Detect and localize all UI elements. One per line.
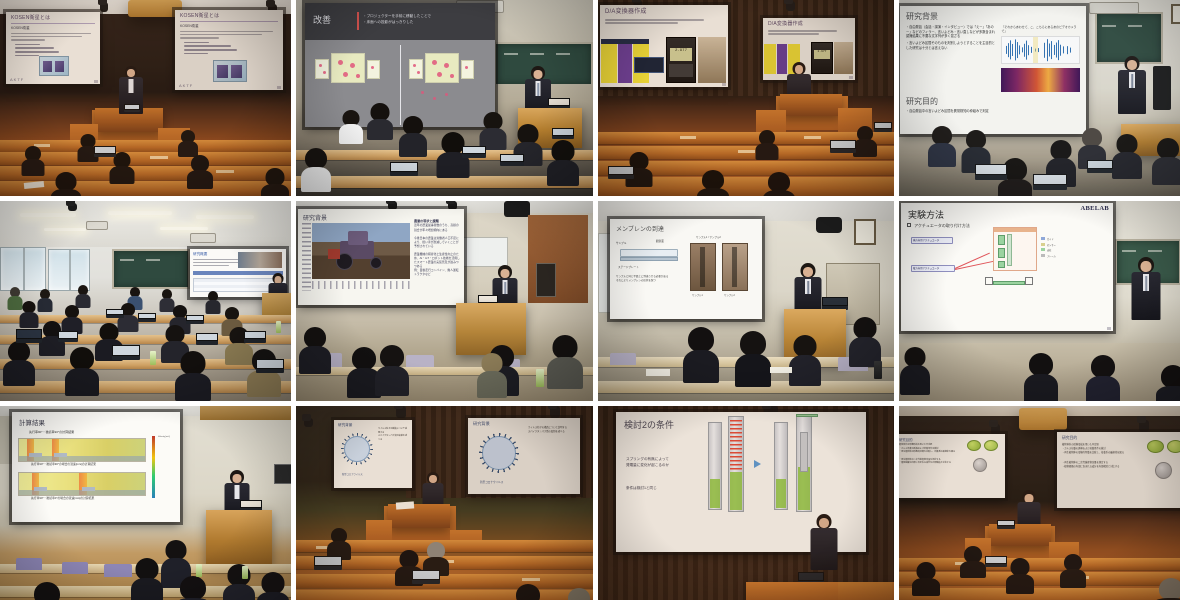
audience-member <box>901 347 929 395</box>
chalkboard <box>112 249 190 289</box>
slide-body-line: ・再生植物体の形態的特徴を比較し、培養系の最適化を図る <box>1062 452 1124 454</box>
audience-member <box>548 335 582 387</box>
slide-label: 横方向用アクチュエータ <box>913 238 939 242</box>
projection-screen: 研究背景 農業の現状と課題 近年の農業従事者数のうち、高齢の割合が年々増加傾向に… <box>298 209 464 305</box>
projection-screen-left: 研究目的 植物体外の形態形成を用いた不定胚 ・カルス培養の誘導および培養条件の検… <box>899 434 1005 498</box>
photo-cell-8[interactable]: 実験方法 ABELAB アクチュエータの取り付け方法 横方向用アクチュエータ 縦… <box>899 201 1180 401</box>
ceiling-lamp-icon <box>1019 408 1067 430</box>
photo-cell-5[interactable]: 研究概要 <box>0 201 291 401</box>
projection-screen: 改善 ・プロジェクターを手前に移動したことで ・床面への投影がはっきりした <box>305 3 495 127</box>
chair <box>610 353 636 365</box>
slide-section-label: アクチュエータの取り付け方法 <box>914 223 970 228</box>
slide-body-line: ウイルス粒子の構造について説明する <box>378 428 407 434</box>
audience-member <box>368 103 392 137</box>
laptop <box>94 146 116 157</box>
spotlight-icon <box>68 203 77 211</box>
audience-member <box>1155 578 1180 600</box>
audience-member <box>66 347 98 393</box>
laptop <box>256 359 284 373</box>
slide-section-label: 農業の現状と課題 <box>414 219 439 223</box>
audience-member <box>564 588 593 600</box>
audience-member <box>736 331 770 385</box>
speaker <box>816 217 842 233</box>
audience-member <box>961 546 985 576</box>
photo-cell-1[interactable]: KOSEN衛星とは KOSEN衛星 AKTF KOSEN衛星とは KOSEN衛星 <box>0 0 291 196</box>
bottle <box>150 351 156 365</box>
slide-title: メンブレンの到達 <box>616 224 756 233</box>
slide-title: KOSEN衛星とは <box>11 16 95 21</box>
slide-body-line: ・カルス培養の誘導および培養条件の検討 <box>1062 448 1106 450</box>
bottle <box>242 566 248 579</box>
window <box>0 247 46 291</box>
audience-member <box>764 172 794 196</box>
audience-member <box>854 126 876 154</box>
laptop <box>16 329 42 343</box>
laptop <box>975 164 1007 180</box>
laptop <box>500 154 524 166</box>
audience-member <box>300 327 330 371</box>
spotlight-icon <box>786 1 795 11</box>
lab-logo: ABELAB <box>1080 205 1109 212</box>
laptop <box>552 128 574 139</box>
photo-cell-4[interactable]: 研究背景 ・自由発話（会話・講演・インタビュー）では「えー」「あのー」などのフィ… <box>899 0 1180 196</box>
audience-member <box>698 170 728 196</box>
photo-cell-6[interactable]: 研究背景 農業の現状と課題 近年の農業従事者数のうち、高齢の割合が年々増加傾向に… <box>296 201 593 401</box>
audience-member <box>1007 558 1033 592</box>
podium <box>780 94 842 116</box>
laptop <box>874 122 892 132</box>
equipment-rack <box>1153 66 1171 110</box>
spotlight-icon <box>396 406 406 418</box>
legend-item: センサー <box>1047 245 1056 247</box>
photo-cell-9[interactable]: 計算結果 先行車90°・後続車90°の計算結果 Velocity [m/s] 先… <box>0 406 291 600</box>
slide-figure-header: サンプル1 / サンプル2 <box>696 235 721 239</box>
audience-member <box>1113 134 1141 178</box>
bottle <box>536 369 544 387</box>
laptop <box>412 570 440 584</box>
projector <box>86 221 108 230</box>
audience-member <box>340 110 362 142</box>
spotlight-icon <box>550 406 560 418</box>
slide-body-line: 条件は検討1と同じ <box>626 486 657 491</box>
ceiling-light <box>108 211 172 215</box>
slide-label: ステージプレート <box>618 265 639 269</box>
audience-member <box>929 126 955 166</box>
audience-member <box>258 572 288 600</box>
slide-body-line: ・自由発話中の言いよどみ区間を異常検知の枠組みで判定 <box>906 109 1010 114</box>
projection-screen-left: 研究背景 ウイルス粒子の構造について説明する スパイクタンパク質の役割を述べる … <box>334 420 412 488</box>
projection-screen: 実験方法 ABELAB アクチュエータの取り付け方法 横方向用アクチュエータ 縦… <box>901 203 1113 331</box>
audience-member <box>850 317 880 365</box>
slide-title: 改善 <box>313 13 331 26</box>
audience-member <box>132 558 162 600</box>
chair <box>62 562 88 574</box>
slide-body-line: ・自由発話（会話・講演・インタビュー）では「えー」「あのー」などのフィラー、言い… <box>906 25 996 39</box>
seat-row <box>296 590 593 600</box>
audience-member <box>1157 365 1180 401</box>
audience-member <box>1061 554 1085 586</box>
slide-title-mirror: D/A変換器作成 <box>768 22 850 27</box>
papers <box>770 367 792 373</box>
projector <box>190 233 216 243</box>
spotlight-icon <box>304 418 313 427</box>
slide-body-line: サンプルと同じ平面上に到達させる必要がある <box>616 275 668 278</box>
audience-member <box>30 582 64 600</box>
photo-grid: KOSEN衛星とは KOSEN衛星 AKTF KOSEN衛星とは KOSEN衛星 <box>0 0 1180 600</box>
photo-cell-2[interactable]: 改善 ・プロジェクターを手前に移動したことで ・床面への投影がはっきりした <box>296 0 593 196</box>
audience-member <box>1153 138 1180 184</box>
laptop <box>830 140 856 153</box>
seat-row <box>899 558 1180 570</box>
legend-item: ガイド <box>1047 239 1054 241</box>
audience-member <box>548 140 578 184</box>
slide-figure-caption-mirror: 新型コロナウイルス <box>480 480 503 484</box>
multimeter-reading: 2.977 <box>670 48 692 61</box>
laptop <box>58 331 78 342</box>
bottle <box>196 564 202 577</box>
laptop <box>997 520 1015 529</box>
seat-row <box>899 588 1180 600</box>
ceiling-light <box>196 215 254 219</box>
audience-member <box>1025 353 1057 401</box>
projection-screen-right: 研究背景 ウイルス粒子の構造について説明する スパイクタンパク質の役割を述べる … <box>468 418 580 494</box>
audience-member <box>756 130 778 158</box>
audience-member <box>22 146 44 174</box>
audience-member <box>400 116 426 154</box>
audience-member <box>176 576 210 600</box>
framed-certificate <box>1171 4 1180 24</box>
audience-member <box>684 327 718 381</box>
papers <box>396 501 414 509</box>
slide-title: 実験方法 <box>908 208 1106 221</box>
laptop <box>112 345 140 360</box>
projection-screen: 研究背景 ・自由発話（会話・講演・インタビュー）では「えー」「あのー」などのフィ… <box>900 6 1086 134</box>
slide-title-mirror: KOSEN衛星とは <box>180 14 278 19</box>
audience-member <box>20 301 38 327</box>
presenter <box>1131 257 1161 319</box>
audience-member <box>790 335 820 385</box>
presenter <box>1117 56 1147 114</box>
audience-member <box>512 584 544 600</box>
laptop <box>1087 160 1113 173</box>
projection-screen-right: 研究目的 植物体外の形態形成を用いた不定胚 ・カルス培養の誘導および培養条件の検… <box>1057 432 1180 508</box>
slide-caption: 「それからあわせて、こ、こちらにあるあのビデオカメラで」 <box>1001 25 1079 33</box>
laptop <box>106 309 124 318</box>
slide-title: D/A変換器作成 <box>605 9 723 15</box>
ceiling-lamp-icon <box>128 0 182 17</box>
slide-label: 観察面 <box>656 239 664 243</box>
slide-body-line: ウイルス粒子の構造について説明する <box>528 427 567 429</box>
audience-member <box>480 112 505 148</box>
audience-member <box>913 562 939 594</box>
slide-body-line: スパイクタンパク質の役割を述べる <box>378 435 407 441</box>
laptop <box>462 146 486 158</box>
laptop <box>314 556 342 570</box>
slide-footer-logo-mirror: AKTF <box>179 83 193 88</box>
wall-monitor <box>274 464 291 484</box>
slide-body-line: 植物体外の形態形成を用いた不定胚 <box>899 444 932 446</box>
slide-label: サンプル <box>616 241 626 245</box>
photo-cell-12[interactable]: 研究目的 植物体外の形態形成を用いた不定胚 ・カルス培養の誘導および培養条件の検… <box>899 406 1180 600</box>
audience-member <box>4 341 34 383</box>
slide-body-line: ・再生植物体の二次代謝産物含量を測定する <box>899 459 941 461</box>
slide-body-line: 農業機械の軽労化と生産性向上のため、AI・IoT・ロボット技術を活用したスマート… <box>414 252 460 268</box>
podium <box>206 510 272 566</box>
slide-body-line: 例：自動走行コンバイン、無人運転トラクタなど <box>414 268 459 276</box>
audience-member <box>52 172 80 196</box>
whiteboard <box>462 237 508 267</box>
wall-monitor <box>536 263 556 297</box>
speaker <box>504 201 530 217</box>
projection-screen-left: KOSEN衛星とは KOSEN衛星 AKTF <box>6 12 100 84</box>
laptop <box>1033 174 1067 190</box>
slide-title: 研究背景 <box>906 11 1080 22</box>
slide-body-line: 植物体外の形態形成を用いた不定胚 <box>1062 444 1099 446</box>
chair <box>104 564 132 577</box>
audience-member <box>376 345 408 393</box>
ceiling-light <box>160 227 208 230</box>
audience-member <box>188 155 212 187</box>
podium-side <box>838 582 892 600</box>
slide-body-line: ・植物組織の内部に含まれる成分を内部構造と対比する <box>1062 466 1119 468</box>
laptop <box>138 313 156 322</box>
audience-member <box>478 353 506 397</box>
legend-item: フレーム <box>1047 256 1056 258</box>
seat-row <box>899 572 1180 585</box>
bottle <box>874 361 882 379</box>
framed-certificate <box>854 219 876 245</box>
audience-member <box>206 291 220 313</box>
laptop <box>390 162 418 176</box>
slide-figure-caption: 新型コロナウイルス <box>342 472 363 476</box>
laptop <box>985 556 1007 567</box>
ceiling-light <box>44 228 86 231</box>
slide-body-line: ・床面への投影がはっきりした <box>363 20 413 24</box>
spotlight-icon <box>100 2 108 12</box>
slide-body-line: 発電量に変化が起こるのか <box>626 463 669 467</box>
audience-member <box>328 528 350 558</box>
ceiling-light <box>20 213 76 217</box>
audience-member <box>262 168 288 196</box>
audience-member <box>176 351 210 399</box>
slide-body-line: ・言いよどみ区間そのものを判別しようとすることを主目的とした研究は十分とは言えな… <box>906 41 996 50</box>
slide-body-line: スパイクタンパク質の役割を述べる <box>528 431 565 433</box>
slide-body-line: ・カルス培養の誘導および培養条件の検討 <box>899 448 938 450</box>
projection-screen-left: D/A変換器作成 2.977 <box>600 5 728 87</box>
slide-label: 縦方向用アクチュエータ <box>913 266 939 270</box>
bottle <box>276 321 281 333</box>
slide-body-line: 近年の農業従事者数のうち、高齢の割合が年々増加傾向にある <box>414 223 459 231</box>
audience-member <box>62 305 82 333</box>
laptop <box>186 315 204 324</box>
audience-member <box>76 285 90 307</box>
projector <box>1089 2 1139 14</box>
wood-ceiling-band <box>200 406 291 420</box>
slide-title: 計算結果 <box>19 417 173 427</box>
audience-member <box>302 148 330 190</box>
slide-footer-logo: AKTF <box>10 77 24 82</box>
laptop <box>244 331 266 343</box>
podium <box>262 293 291 317</box>
papers <box>646 369 670 376</box>
photo-cell-3[interactable]: D/A変換器作成 2.977 D/A変換器作成 <box>598 0 894 196</box>
slide-body-line: それによりメンブレンの形状を保つ <box>616 279 656 282</box>
slide-body-line: 今後日本の農業は労働者人口不足により、担い手が激減していくことが予想されている <box>414 236 459 248</box>
slide-title-2: 研究目的 <box>906 96 1080 107</box>
slide-body-line: ・再生植物体の二次代謝産物含量を測定する <box>1062 462 1108 464</box>
photo-cell-10[interactable]: 研究背景 ウイルス粒子の構造について説明する スパイクタンパク質の役割を述べる … <box>296 406 593 600</box>
laptop <box>124 104 140 112</box>
laptop <box>608 166 634 179</box>
chair <box>16 558 42 570</box>
projection-screen: 計算結果 先行車90°・後続車90°の計算結果 Velocity [m/s] 先… <box>12 412 180 522</box>
slide-body-line: ・プロジェクターを手前に移動したことで <box>363 14 431 18</box>
spotlight-icon <box>1139 420 1149 432</box>
laptop <box>196 333 218 345</box>
slide-body-line: ・再生植物体の形態的特徴を比較し、培養系の最適化を図る <box>899 451 955 453</box>
audience-member <box>224 564 254 600</box>
seat-row <box>296 574 593 588</box>
legend-item: 支柱 <box>1047 250 1051 252</box>
slide-section-label-mirror: KOSEN衛星 <box>180 24 278 29</box>
presenter <box>810 514 838 570</box>
audience-member <box>178 130 197 155</box>
slide-body-line: 先行車90°・後続車90°の計算結果 <box>29 430 173 434</box>
audience-member <box>1087 355 1119 401</box>
projection-screen: メンブレンの到達 サンプル 観察面 ステージプレート サンプルと同じ平面上に到達… <box>610 219 762 319</box>
slide-title-mirror: 研究目的 <box>1062 436 1180 441</box>
slide-section-label: KOSEN衛星 <box>11 26 95 31</box>
photo-cell-11[interactable]: 検討2の条件 スプリングの有無によって 発電量に変化が起こるのか 条件は検討1と… <box>598 406 894 600</box>
slide-body-line: スプリングの有無によって <box>626 457 669 461</box>
projection-screen-right: KOSEN衛星とは KOSEN衛星 AKTF <box>175 10 283 90</box>
photo-cell-7[interactable]: メンブレンの到達 サンプル 観察面 ステージプレート サンプルと同じ平面上に到達… <box>598 201 894 401</box>
slide-body-line: ・植物組織の内部に含まれる成分を内部構造と対比する <box>899 462 951 464</box>
audience-member <box>38 289 52 311</box>
